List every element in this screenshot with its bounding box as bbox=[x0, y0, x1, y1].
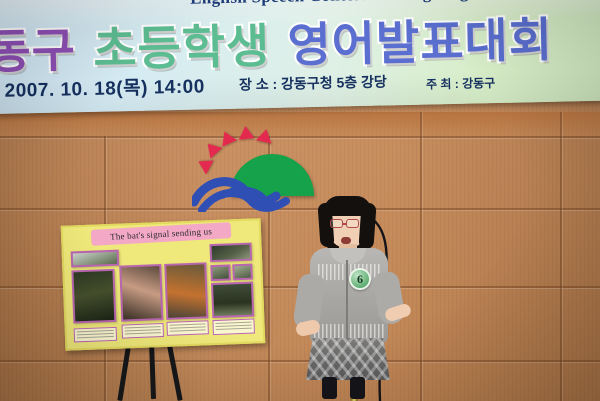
poster-photo bbox=[209, 243, 252, 263]
plaid-skirt bbox=[306, 338, 390, 380]
photograph-scene: English Speech Contest of Gangdong-Gu 강동… bbox=[0, 0, 600, 401]
easel-leg bbox=[166, 341, 182, 401]
jacket-zipper bbox=[346, 260, 348, 340]
hair-fringe bbox=[324, 196, 371, 216]
wall-seam-vertical bbox=[560, 112, 562, 401]
student-presenter: 6 bbox=[288, 196, 423, 401]
glasses-lens-left bbox=[330, 219, 343, 228]
contestant-number-badge: 6 bbox=[349, 268, 371, 290]
poster-title: The bat's signal sending us bbox=[110, 226, 212, 242]
banner-host: 주 최 : 강동구 bbox=[426, 74, 496, 93]
poster-caption bbox=[212, 319, 255, 336]
easel-leg bbox=[117, 341, 131, 401]
poster-photo bbox=[210, 264, 231, 281]
glasses-lens-right bbox=[346, 219, 359, 228]
jacket-knit-texture bbox=[314, 324, 384, 340]
presentation-poster: The bat's signal sending us bbox=[61, 218, 266, 351]
glasses-bridge bbox=[343, 223, 347, 225]
mouth bbox=[341, 237, 351, 244]
headline-part-gangdonggu: 강동구 bbox=[0, 23, 77, 81]
poster-photo bbox=[71, 250, 120, 268]
poster-photo bbox=[232, 264, 253, 281]
poster-photo bbox=[71, 269, 116, 324]
emblem-ray-icon bbox=[256, 127, 274, 143]
banner-date: : 2007. 10. 18(목) 14:00 bbox=[0, 71, 205, 103]
easel-leg bbox=[149, 341, 156, 399]
leg-left bbox=[322, 377, 337, 399]
emblem-ray-icon bbox=[217, 128, 237, 146]
poster-photo bbox=[211, 282, 254, 319]
poster-easel bbox=[120, 341, 220, 401]
poster-caption bbox=[122, 323, 165, 339]
poster-photo bbox=[119, 264, 163, 322]
event-banner: English Speech Contest of Gangdong-Gu 강동… bbox=[0, 0, 600, 114]
banner-place: 장 소 : 강동구청 5층 강당 bbox=[239, 71, 387, 94]
poster-caption bbox=[166, 320, 209, 336]
poster-photo bbox=[164, 262, 208, 320]
poster-caption bbox=[74, 327, 118, 343]
leg-right bbox=[350, 377, 365, 399]
headline-part-elementary: 초등학생 bbox=[93, 19, 271, 78]
emblem-ray-icon bbox=[237, 125, 254, 140]
